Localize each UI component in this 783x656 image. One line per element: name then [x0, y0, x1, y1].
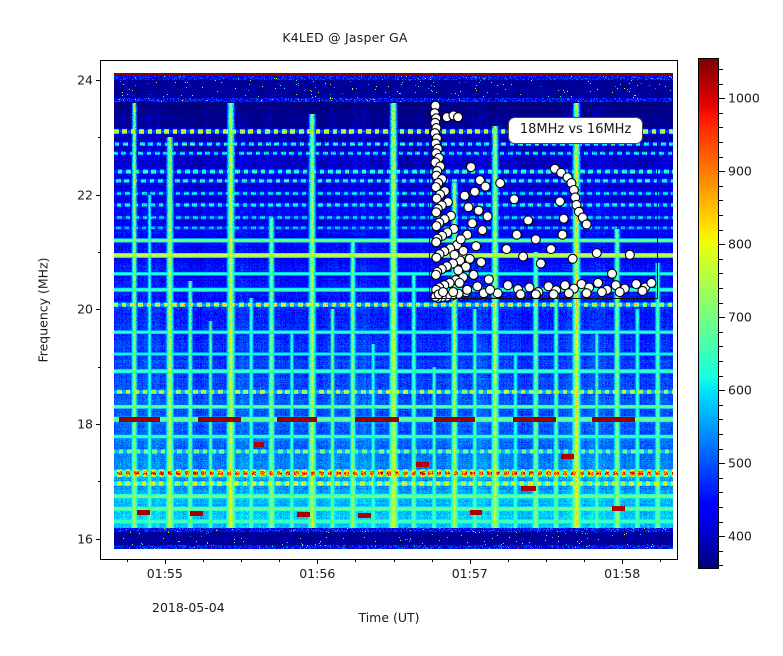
x-tick-minor — [394, 559, 395, 562]
colorbar-tick-label: 1000 — [728, 91, 760, 106]
colorbar-tick-minor — [719, 405, 723, 406]
colorbar-tick-minor — [719, 346, 723, 347]
date-caption: 2018-05-04 — [152, 600, 225, 615]
colorbar-tick-minor — [719, 113, 723, 114]
colorbar-tick-minor — [719, 200, 723, 201]
x-tick-label: 01:55 — [147, 566, 183, 581]
colorbar-tick-minor — [719, 157, 723, 158]
colorbar-tick-label: 500 — [728, 456, 752, 471]
x-tick-major — [622, 559, 623, 564]
colorbar-tick-minor — [719, 84, 723, 85]
colorbar-tick-minor — [719, 186, 723, 187]
x-tick-major — [165, 559, 166, 564]
x-axis-label: Time (UT) — [358, 610, 419, 625]
y-tick-label: 22 — [77, 187, 93, 202]
y-tick-label: 16 — [77, 531, 93, 546]
x-tick-label: 01:58 — [604, 566, 640, 581]
x-tick-minor — [546, 559, 547, 562]
colorbar-tick-minor — [719, 288, 723, 289]
x-tick-minor — [241, 559, 242, 562]
colorbar-tick-major — [719, 317, 725, 318]
y-tick-minor — [98, 137, 101, 138]
colorbar-tick-minor — [719, 507, 723, 508]
x-tick-minor — [279, 559, 280, 562]
colorbar-tick-minor — [719, 273, 723, 274]
colorbar-tick-minor — [719, 478, 723, 479]
colorbar-tick-major — [719, 390, 725, 391]
colorbar-tick-minor — [719, 565, 723, 566]
colorbar-tick-major — [719, 536, 725, 537]
colorbar-tick-minor — [719, 215, 723, 216]
echo-scatter-overlay — [114, 73, 673, 549]
annotation-label: 18MHz vs 16MHz — [508, 117, 643, 144]
y-tick-major — [96, 80, 101, 81]
y-tick-label: 18 — [77, 416, 93, 431]
x-tick-label: 01:57 — [452, 566, 488, 581]
figure-canvas: K4LED @ Jasper GA Frequency (MHz) Time (… — [0, 0, 783, 656]
colorbar-tick-minor — [719, 449, 723, 450]
page-title: K4LED @ Jasper GA — [0, 30, 690, 45]
x-tick-minor — [432, 559, 433, 562]
colorbar-tick-minor — [719, 69, 723, 70]
colorbar-tick-label: 900 — [728, 164, 752, 179]
x-tick-label: 01:56 — [299, 566, 335, 581]
y-tick-minor — [98, 252, 101, 253]
x-tick-minor — [660, 559, 661, 562]
y-tick-major — [96, 424, 101, 425]
colorbar-tick-minor — [719, 230, 723, 231]
y-tick-label: 24 — [77, 72, 93, 87]
colorbar-tick-minor — [719, 492, 723, 493]
colorbar-tick-minor — [719, 522, 723, 523]
y-tick-major — [96, 309, 101, 310]
y-tick-minor — [98, 367, 101, 368]
colorbar-tick-minor — [719, 434, 723, 435]
spectrogram-axes: 18MHz vs 16MHz 2422201816 01:5501:5601:5… — [100, 60, 678, 560]
y-axis-label: Frequency (MHz) — [36, 257, 51, 362]
colorbar — [698, 58, 719, 569]
y-tick-major — [96, 195, 101, 196]
colorbar-gradient — [699, 59, 718, 568]
colorbar-tick-minor — [719, 361, 723, 362]
colorbar-tick-minor — [719, 259, 723, 260]
colorbar-tick-major — [719, 463, 725, 464]
colorbar-tick-label: 600 — [728, 383, 752, 398]
x-tick-major — [470, 559, 471, 564]
y-tick-minor — [98, 481, 101, 482]
colorbar-tick-major — [719, 244, 725, 245]
colorbar-tick-major — [719, 171, 725, 172]
colorbar-tick-minor — [719, 142, 723, 143]
x-tick-major — [317, 559, 318, 564]
colorbar-tick-minor — [719, 303, 723, 304]
x-tick-minor — [355, 559, 356, 562]
y-tick-label: 20 — [77, 302, 93, 317]
x-tick-minor — [508, 559, 509, 562]
colorbar-tick-minor — [719, 551, 723, 552]
x-tick-minor — [203, 559, 204, 562]
colorbar-tick-minor — [719, 127, 723, 128]
colorbar-tick-major — [719, 98, 725, 99]
x-tick-minor — [127, 559, 128, 562]
colorbar-tick-minor — [719, 419, 723, 420]
colorbar-tick-label: 400 — [728, 529, 752, 544]
colorbar-tick-minor — [719, 332, 723, 333]
colorbar-tick-label: 800 — [728, 237, 752, 252]
colorbar-tick-minor — [719, 376, 723, 377]
colorbar-tick-label: 700 — [728, 310, 752, 325]
y-tick-major — [96, 539, 101, 540]
x-tick-minor — [584, 559, 585, 562]
